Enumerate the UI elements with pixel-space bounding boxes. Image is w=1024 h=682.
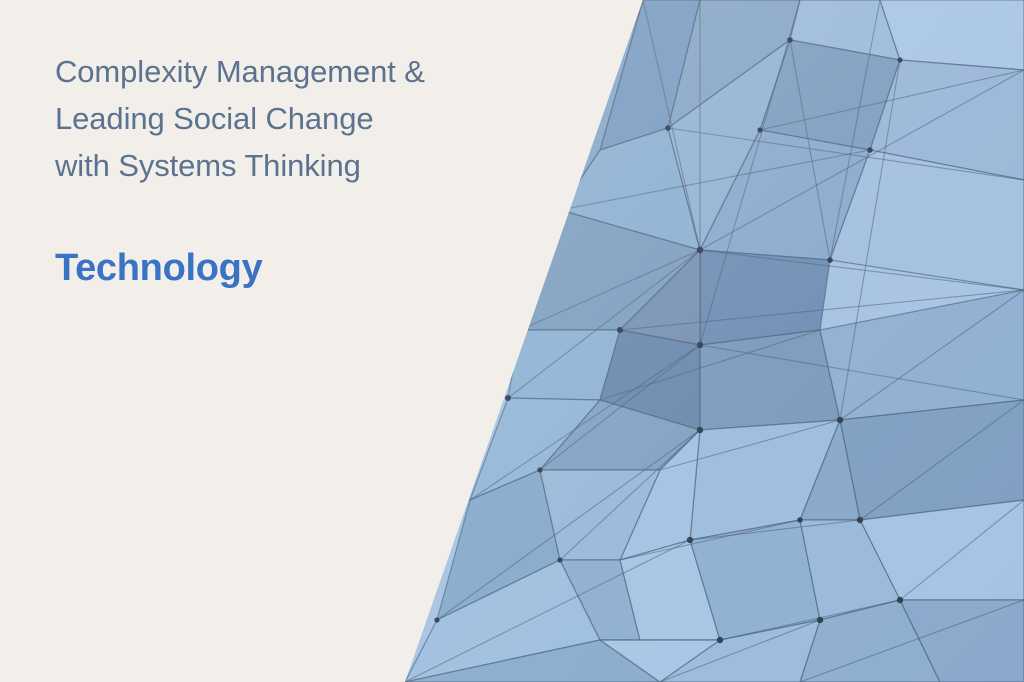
course-card: Complexity Management & Leading Social C… xyxy=(0,0,1024,682)
page-title: Complexity Management & Leading Social C… xyxy=(55,48,575,189)
category-label: Technology xyxy=(55,245,262,291)
text-block: Complexity Management & Leading Social C… xyxy=(55,48,575,189)
